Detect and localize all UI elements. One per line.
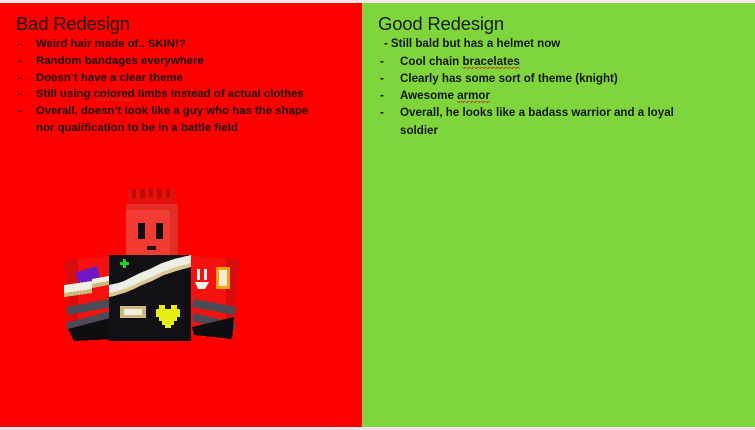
- bullet-text: Random bandages everywhere: [36, 55, 204, 67]
- good-panel-title: Good Redesign: [378, 13, 743, 34]
- bullet-text: Still bald but has a helmet now: [391, 37, 560, 50]
- bullet-dash: -: [380, 71, 384, 88]
- bullet-text: Clearly has some sort of theme (knight): [400, 72, 618, 85]
- list-item: - Overall, he looks like a badass warrio…: [378, 105, 743, 122]
- bad-panel-title: Bad Redesign: [16, 13, 350, 34]
- bullet-text: Weird hair made of.. SKIN!?: [36, 38, 186, 50]
- list-item: - Weird hair made of.. SKIN!?: [16, 36, 350, 52]
- bullet-dash: -: [380, 105, 384, 122]
- list-item: - Clearly has some sort of theme (knight…: [378, 71, 743, 88]
- misspelled-word: colored: [94, 88, 135, 101]
- right-arm-group: [190, 255, 240, 341]
- bullet-dash: -: [18, 103, 22, 119]
- bullet-dash: -: [18, 53, 22, 69]
- hair-spikes-group: [128, 189, 176, 206]
- good-bullet-list: -Still bald but has a helmet now -Cool c…: [378, 36, 743, 139]
- misspelled-word: armor: [457, 89, 490, 103]
- list-item: -Still bald but has a helmet now: [378, 36, 743, 53]
- list-item-continuation: soldier: [378, 123, 743, 140]
- torso-group: [109, 255, 191, 341]
- bad-text-block: Bad Redesign - Weird hair made of.. SKIN…: [0, 3, 362, 136]
- bullet-text: soldier: [400, 124, 438, 137]
- bullet-dash: -: [18, 70, 22, 86]
- bullet-dash: -: [384, 37, 388, 50]
- bullet-text: Overall, doesn’t look like a guy who has…: [36, 105, 308, 117]
- bullet-text-pre: Still using: [36, 88, 94, 100]
- list-item: - Overall, doesn’t look like a guy who h…: [16, 103, 350, 119]
- bullet-text: Doesn’t have a clear theme: [36, 72, 183, 84]
- bullet-text-post: limbs instead of actual clothes: [135, 88, 304, 100]
- bad-avatar-image: [62, 189, 302, 374]
- bullet-dash: -: [18, 36, 22, 52]
- list-item: -Still using colored limbs instead of ac…: [16, 86, 350, 102]
- good-text-block: Good Redesign -Still bald but has a helm…: [362, 3, 755, 140]
- bad-bullet-list: - Weird hair made of.. SKIN!? - Random b…: [16, 36, 350, 136]
- bullet-text: Overall, he looks like a badass warrior …: [400, 106, 674, 119]
- left-arm-group: [64, 255, 114, 341]
- list-item: - Doesn’t have a clear theme: [16, 70, 350, 86]
- panel-bad-redesign: Bad Redesign - Weird hair made of.. SKIN…: [0, 3, 362, 427]
- panel-good-redesign: Good Redesign -Still bald but has a helm…: [362, 3, 755, 427]
- head-group: [126, 204, 178, 256]
- list-item-continuation: nor qualification to be in a battle fiel…: [16, 120, 350, 136]
- list-item: - Random bandages everywhere: [16, 53, 350, 69]
- slide-canvas: Bad Redesign - Weird hair made of.. SKIN…: [0, 0, 755, 430]
- misspelled-word: bracelates: [462, 55, 519, 69]
- bullet-text-pre: Awesome: [400, 89, 457, 102]
- bullet-dash: -: [380, 88, 384, 105]
- list-item: -Awesome armor: [378, 88, 743, 105]
- bullet-text: nor qualification to be in a battle fiel…: [36, 122, 238, 134]
- bad-avatar-svg: [62, 189, 302, 374]
- bullet-text-pre: Cool chain: [400, 55, 462, 68]
- slide-top-edge: [0, 0, 755, 3]
- bullet-dash: -: [18, 86, 22, 102]
- list-item: -Cool chain bracelates: [378, 54, 743, 71]
- bullet-dash: -: [380, 54, 384, 71]
